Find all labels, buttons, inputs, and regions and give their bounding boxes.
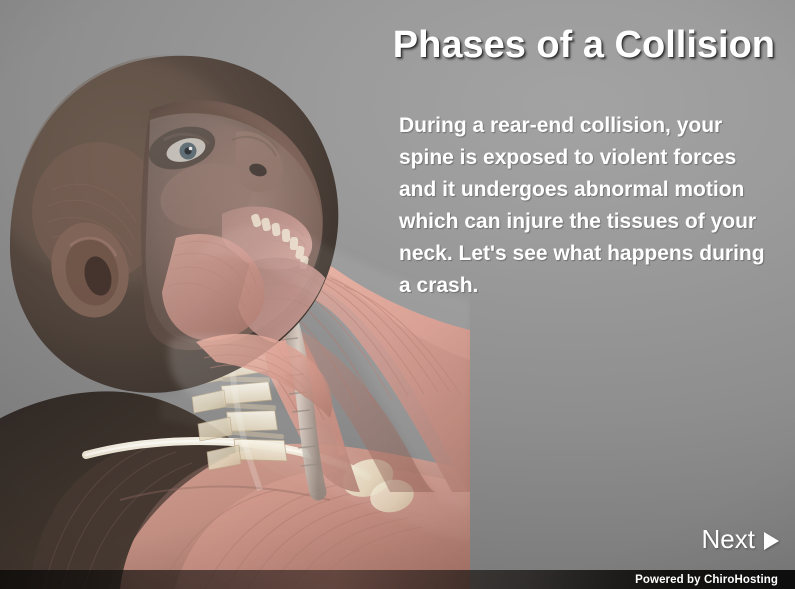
next-button-label: Next — [702, 524, 755, 555]
play-triangle-right-icon — [764, 532, 779, 550]
slide-body-text: During a rear-end collision, your spine … — [399, 110, 771, 302]
footer-bar: Powered by ChiroHosting — [0, 570, 795, 589]
presentation-slide: Phases of a Collision During a rear-end … — [0, 0, 795, 589]
powered-by-credit: Powered by ChiroHosting — [635, 574, 795, 586]
next-button[interactable]: Next — [702, 524, 779, 555]
page-title: Phases of a Collision — [393, 24, 775, 67]
